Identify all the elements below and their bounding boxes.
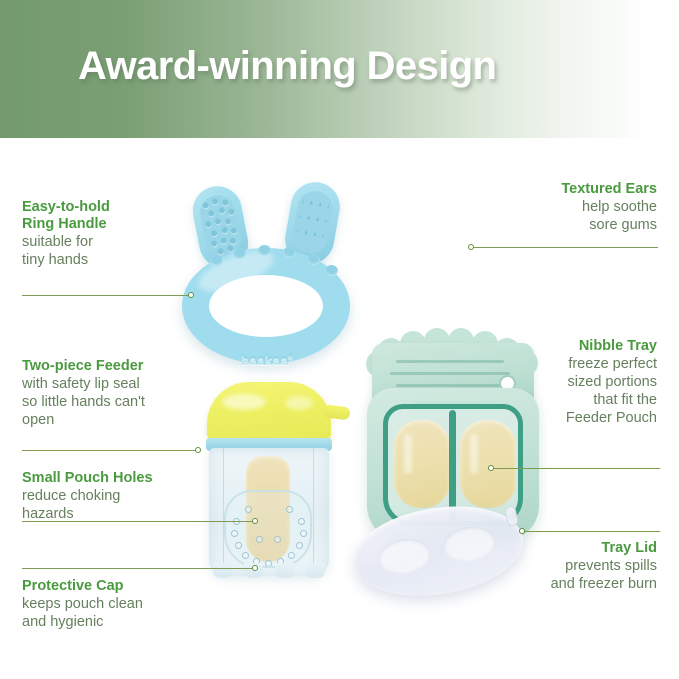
brand-logo: haakaa® [234,353,300,368]
connector-ring-handle [22,295,190,296]
feeder-foot [213,563,232,578]
callout-body: suitable for [22,233,110,251]
callout-two-piece-feeder: Two-piece Feeder with safety lip seal so… [22,358,145,429]
callout-body: sized portions [566,373,657,391]
ring-bump [283,247,296,258]
ring-bump [210,255,223,266]
ring-bump [233,248,246,259]
pouch-hole-shell [224,490,312,568]
infographic-page: Award-winning Design [0,0,679,679]
food-portion [460,420,516,508]
connector-dot-pouch-holes [252,518,258,524]
callout-ring-handle: Easy-to-hold Ring Handle suitable for ti… [22,199,110,269]
callout-body: help soothe [561,198,657,216]
callout-heading: Easy-to-hold [22,199,110,216]
cap-highlight [285,396,313,410]
callout-body: and freezer burn [551,575,657,593]
callout-body: prevents spills [551,557,657,575]
callout-body: freeze perfect [566,355,657,373]
ring-bump [325,265,338,276]
callout-heading: Tray Lid [551,540,657,557]
callout-heading: Textured Ears [561,181,657,198]
callout-body: and hygienic [22,613,143,631]
callout-body: tiny hands [22,251,110,269]
callout-heading: Two-piece Feeder [22,358,145,375]
connector-two-piece-feeder [22,450,197,451]
callout-body: that fit the [566,391,657,409]
tray-divider [449,410,456,522]
callout-body: hazards [22,505,153,523]
callout-body: Feeder Pouch [566,409,657,427]
connector-dot-protective-cap [252,565,258,571]
ring-bump [307,254,320,265]
callout-pouch-holes: Small Pouch Holes reduce choking hazards [22,470,153,523]
callout-body: so little hands can't [22,393,145,411]
connector-protective-cap [22,568,254,569]
callout-heading: Small Pouch Holes [22,470,153,487]
callout-body: open [22,411,145,429]
right-ear-zigzag-texture [290,188,335,256]
connector-dot-tray-lid [519,528,525,534]
callout-heading: Ring Handle [22,216,110,233]
callout-tray-lid: Tray Lid prevents spills and freezer bur… [551,540,657,593]
connector-dot-textured-ears [468,244,474,250]
callout-body: keeps pouch clean [22,595,143,613]
callout-heading: Nibble Tray [566,338,657,355]
connector-textured-ears [472,247,658,248]
connector-dot-two-piece-feeder [195,447,201,453]
food-portion [394,420,450,508]
callout-nibble-tray: Nibble Tray freeze perfect sized portion… [566,338,657,427]
cap-highlight [222,394,266,410]
header-banner: Award-winning Design [0,0,679,138]
callout-textured-ears: Textured Ears help soothe sore gums [561,181,657,234]
page-title: Award-winning Design [78,44,496,89]
feeder-foot [306,563,325,578]
feeder-yellow-cap [207,382,331,444]
ring-bump [258,245,271,256]
callout-body: reduce choking [22,487,153,505]
callout-protective-cap: Protective Cap keeps pouch clean and hyg… [22,578,143,631]
cap-side-tab [325,405,350,421]
callout-heading: Protective Cap [22,578,143,595]
callout-body: with safety lip seal [22,375,145,393]
connector-tray-lid [524,531,660,532]
connector-dot-ring-handle [188,292,194,298]
connector-dot-nibble-tray [488,465,494,471]
feeder-foot [275,563,294,578]
connector-nibble-tray [492,468,660,469]
callout-body: sore gums [561,216,657,234]
